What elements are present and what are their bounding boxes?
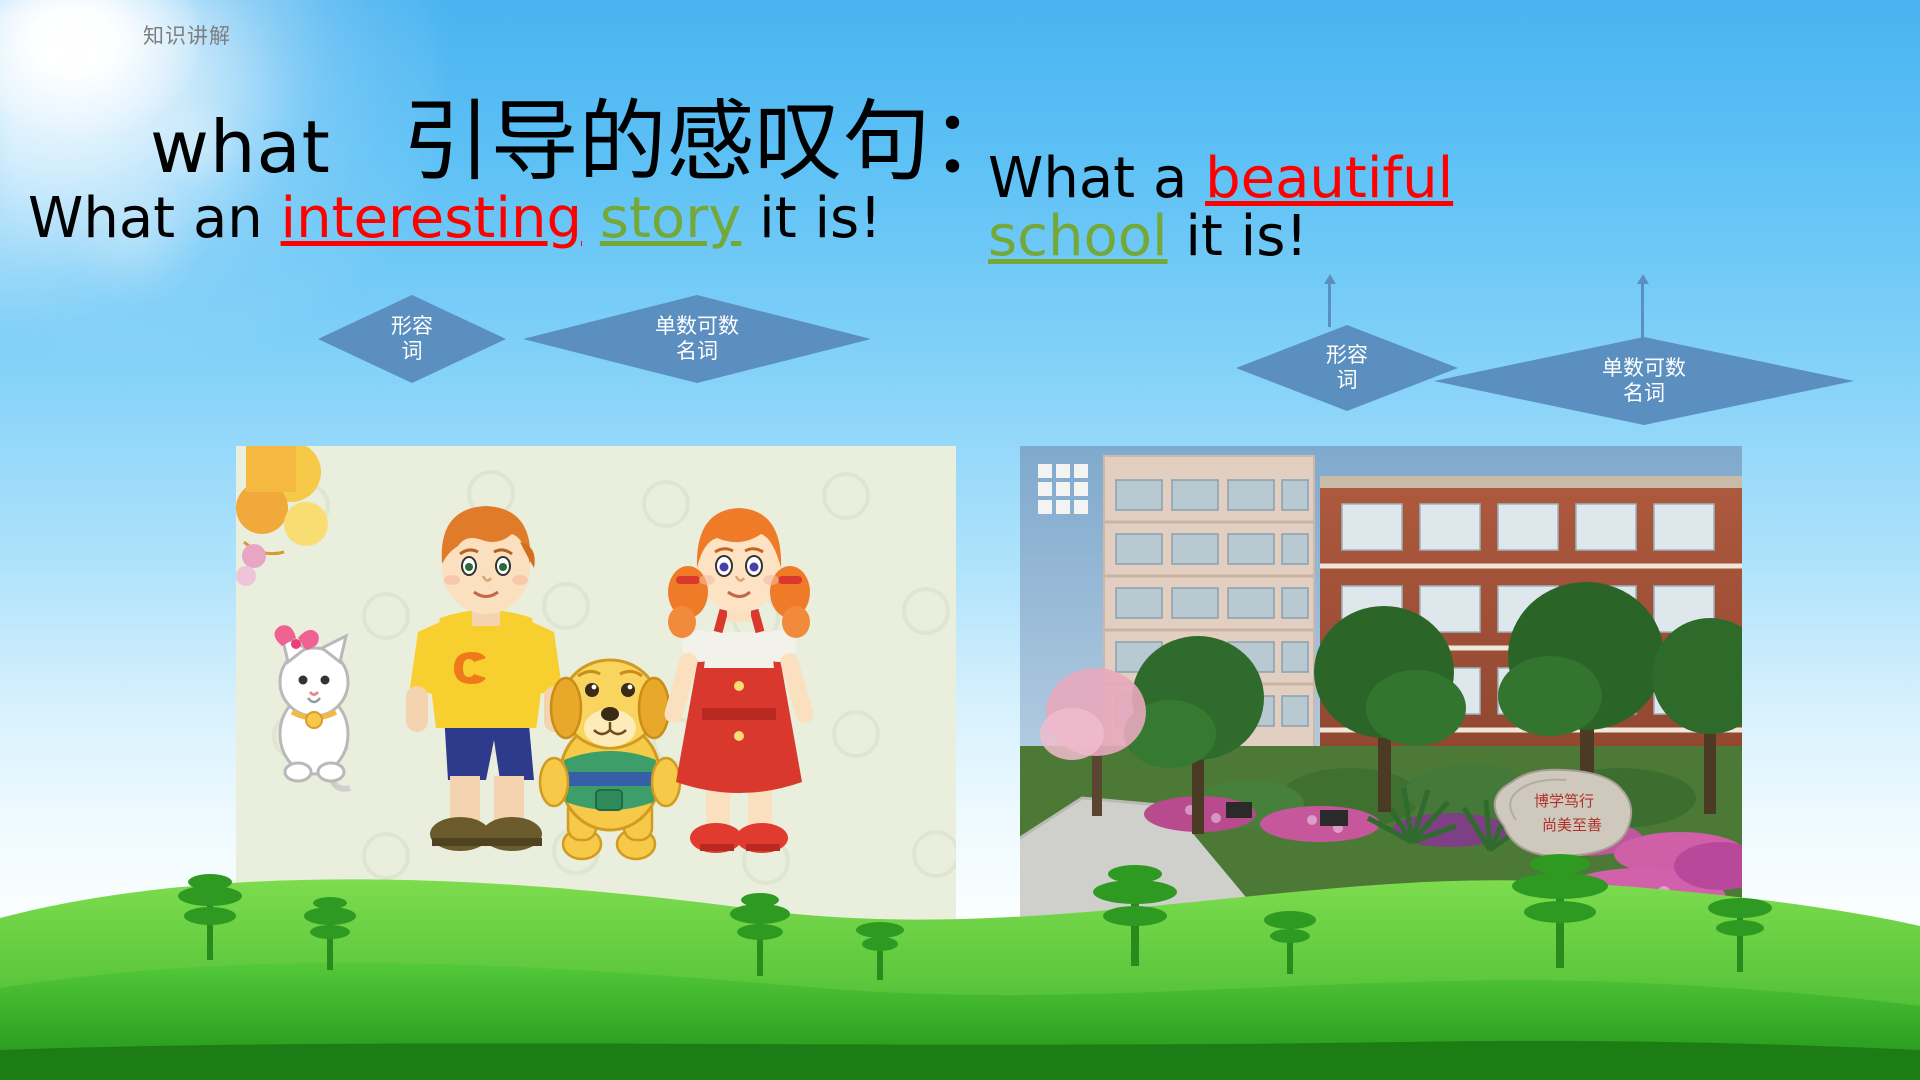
callout-right-adjective: 形容 词 [1236, 325, 1458, 411]
grass-foreground [0, 750, 1920, 1080]
callout-left-adjective: 形容 词 [318, 295, 506, 383]
sentence-right-before: What a [988, 146, 1205, 211]
page-title: what 引导的感叹句： [150, 98, 1019, 186]
callout-left-noun: 单数可数 名词 [523, 295, 871, 383]
sentence-left-after: it is! [741, 186, 881, 251]
sentence-left-noun: story [600, 186, 742, 251]
callout-right-noun-line2: 名词 [1602, 381, 1686, 406]
example-sentence-right: What a beautiful school it is! [988, 150, 1598, 266]
sentence-left-adjective: interesting [281, 186, 582, 251]
slide-canvas: 知识讲解 what 引导的感叹句： What an interesting st… [0, 0, 1920, 1080]
example-sentence-left: What an interesting story it is! [28, 190, 882, 248]
title-keyword: what [150, 105, 331, 189]
section-header-label: 知识讲解 [143, 20, 231, 50]
sentence-right-after: it is! [1168, 204, 1308, 269]
callout-left-adjective-line2: 词 [391, 339, 433, 364]
sentence-right-adjective: beautiful [1205, 146, 1453, 211]
sentence-left-gap [582, 186, 600, 251]
callout-left-noun-line2: 名词 [655, 339, 739, 364]
title-rest: 引导的感叹句： [403, 90, 1019, 193]
balloon-cluster [236, 446, 328, 586]
callout-right-noun-line1: 单数可数 [1602, 356, 1686, 381]
callout-right-adjective-line1: 形容 [1326, 343, 1368, 368]
callout-left-noun-line1: 单数可数 [655, 314, 739, 339]
callout-left-adjective-line1: 形容 [391, 314, 433, 339]
callout-right-noun: 单数可数 名词 [1434, 337, 1854, 425]
sentence-right-noun: school [988, 204, 1168, 269]
callout-right-adjective-line2: 词 [1326, 368, 1368, 393]
sentence-left-before: What an [28, 186, 281, 251]
